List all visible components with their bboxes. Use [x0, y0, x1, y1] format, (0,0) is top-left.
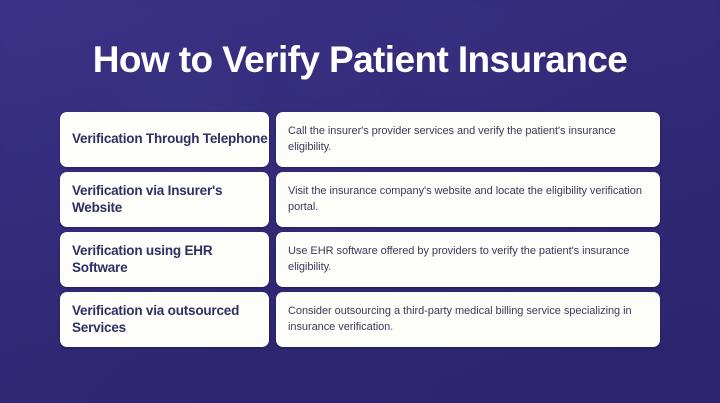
method-heading-card: Verification Through Telephone	[60, 112, 269, 167]
method-description-text: Use EHR software offered by providers to…	[288, 244, 646, 275]
method-heading-text: Verification via Insurer's Website	[72, 183, 269, 216]
method-heading-text: Verification Through Telephone	[72, 131, 269, 148]
page-title: How to Verify Patient Insurance	[0, 37, 720, 83]
list-item: Verification via outsourced Services Con…	[60, 292, 660, 347]
method-heading-card: Verification via Insurer's Website	[60, 172, 269, 227]
method-description-card: Consider outsourcing a third-party medic…	[276, 292, 660, 347]
slide-content: How to Verify Patient Insurance Verifica…	[0, 0, 720, 403]
list-item: Verification via Insurer's Website Visit…	[60, 172, 660, 227]
method-description-card: Call the insurer's provider services and…	[276, 112, 660, 167]
method-description-text: Visit the insurance company's website an…	[288, 184, 646, 215]
verification-methods-list: Verification Through Telephone Call the …	[60, 112, 660, 352]
method-heading-text: Verification using EHR Software	[72, 243, 269, 276]
method-heading-text: Verification via outsourced Services	[72, 303, 269, 336]
method-description-text: Consider outsourcing a third-party medic…	[288, 304, 646, 335]
slide-canvas: How to Verify Patient Insurance Verifica…	[0, 0, 720, 403]
method-description-text: Call the insurer's provider services and…	[288, 124, 646, 155]
method-description-card: Visit the insurance company's website an…	[276, 172, 660, 227]
list-item: Verification using EHR Software Use EHR …	[60, 232, 660, 287]
method-description-card: Use EHR software offered by providers to…	[276, 232, 660, 287]
list-item: Verification Through Telephone Call the …	[60, 112, 660, 167]
method-heading-card: Verification via outsourced Services	[60, 292, 269, 347]
method-heading-card: Verification using EHR Software	[60, 232, 269, 287]
